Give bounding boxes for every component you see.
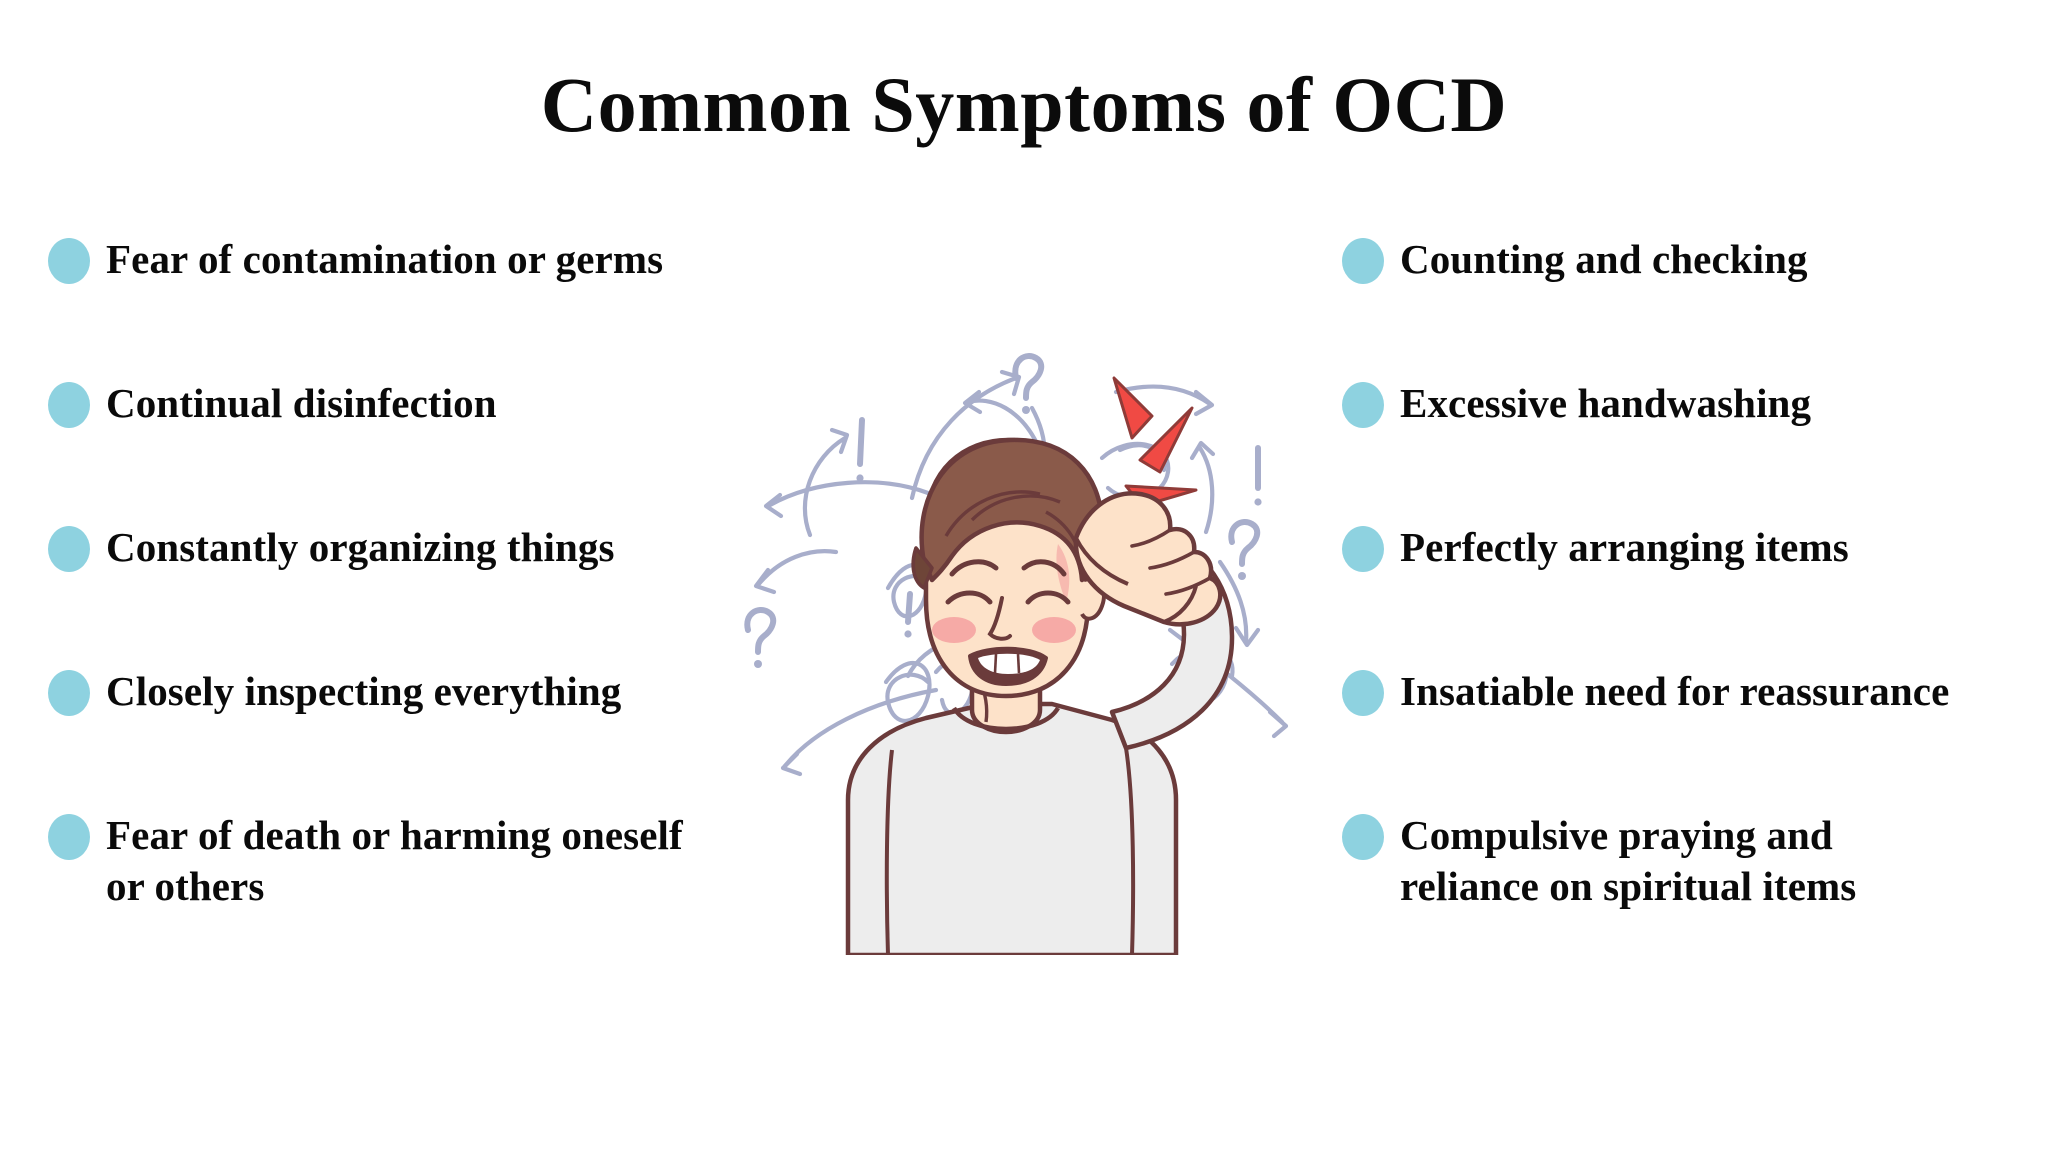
list-item[interactable]: Insatiable need for reassurance [1342, 664, 2048, 722]
symptom-label: Excessive handwashing [1400, 376, 2048, 429]
bullet-circle-icon [1342, 670, 1384, 716]
cheek-left [932, 617, 976, 643]
infographic-poster: Common Symptoms of OCD Fear of contamina… [0, 0, 2048, 1152]
bullet-circle-icon [48, 382, 90, 428]
list-item[interactable]: Counting and checking [1342, 232, 2048, 290]
symptom-label: Compulsive praying and reliance on spiri… [1400, 808, 2048, 912]
list-item[interactable]: Closely inspecting everything [48, 664, 788, 722]
list-item[interactable]: Continual disinfection [48, 376, 788, 434]
symptom-label: Continual disinfection [106, 376, 788, 429]
bullet-circle-icon [48, 238, 90, 284]
symptom-label: Perfectly arranging items [1400, 520, 2048, 573]
bullet-circle-icon [1342, 382, 1384, 428]
bullet-circle-icon [48, 670, 90, 716]
bullet-circle-icon [1342, 526, 1384, 572]
symptom-column-right: Counting and checking Excessive handwash… [1342, 232, 2048, 912]
list-item[interactable]: Fear of contamination or germs [48, 232, 788, 290]
symptom-column-left: Fear of contamination or germs Continual… [48, 232, 788, 912]
page-title: Common Symptoms of OCD [0, 62, 2048, 148]
bullet-circle-icon [1342, 814, 1384, 860]
symptom-label: Insatiable need for reassurance [1400, 664, 2048, 717]
list-item[interactable]: Excessive handwashing [1342, 376, 2048, 434]
list-item[interactable]: Perfectly arranging items [1342, 520, 2048, 578]
list-item[interactable]: Compulsive praying and reliance on spiri… [1342, 808, 2048, 912]
bullet-circle-icon [48, 814, 90, 860]
cheek-right [1032, 617, 1076, 643]
stressed-man-illustration-svg [740, 330, 1320, 955]
symptom-label: Closely inspecting everything [106, 664, 788, 717]
symptom-label: Fear of death or harming oneself or othe… [106, 808, 788, 912]
symptom-label: Fear of contamination or germs [106, 232, 788, 285]
bullet-circle-icon [1342, 238, 1384, 284]
list-item[interactable]: Constantly organizing things [48, 520, 788, 578]
stressed-man-illustration [740, 330, 1320, 955]
bullet-circle-icon [48, 526, 90, 572]
symptom-label: Constantly organizing things [106, 520, 788, 573]
symptom-label: Counting and checking [1400, 232, 2048, 285]
pain-bolts-group [1114, 378, 1196, 506]
list-item[interactable]: Fear of death or harming oneself or othe… [48, 808, 788, 912]
